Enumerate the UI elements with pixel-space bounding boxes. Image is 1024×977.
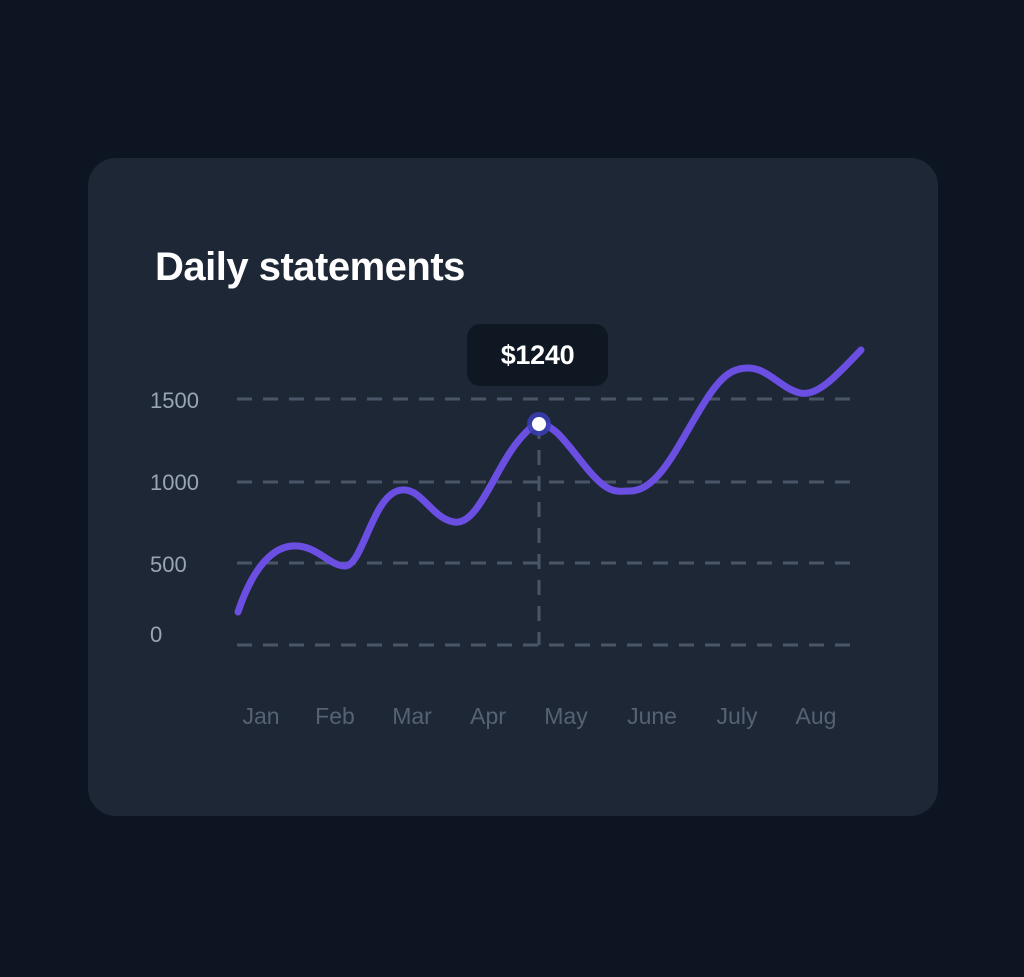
value-tooltip: $1240 <box>467 324 608 386</box>
x-axis-labels: Jan Feb Mar Apr May June July Aug <box>230 703 870 737</box>
data-point-marker[interactable] <box>532 417 546 431</box>
page-title: Daily statements <box>155 243 465 291</box>
x-tick-feb: Feb <box>315 703 355 730</box>
x-tick-july: July <box>717 703 758 730</box>
y-axis-labels: 1500 1000 500 0 <box>150 380 230 660</box>
tooltip-value-text: $1240 <box>501 340 575 371</box>
x-tick-may: May <box>544 703 587 730</box>
x-tick-june: June <box>627 703 677 730</box>
y-tick-500: 500 <box>150 552 230 578</box>
y-tick-1000: 1000 <box>150 470 230 496</box>
y-tick-0: 0 <box>150 622 230 648</box>
y-tick-1500: 1500 <box>150 388 230 414</box>
x-tick-aug: Aug <box>796 703 837 730</box>
x-tick-jan: Jan <box>242 703 279 730</box>
x-tick-mar: Mar <box>392 703 432 730</box>
page-root: Daily statements 1500 1000 500 0 Jan Feb… <box>0 0 1024 977</box>
x-tick-apr: Apr <box>470 703 506 730</box>
